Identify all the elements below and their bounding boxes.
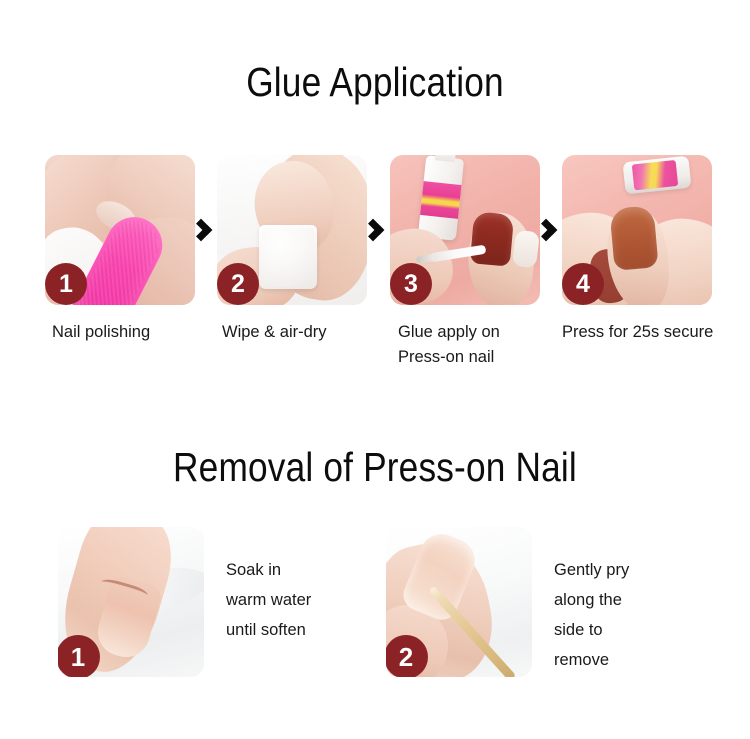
- glue-step-1-caption: Nail polishing: [52, 320, 212, 345]
- page-title-glue-application: Glue Application: [53, 58, 698, 106]
- pry-with-stick-photo: 2: [386, 527, 532, 677]
- glue-step-4[interactable]: 4: [562, 155, 712, 305]
- nail-polishing-photo: 1: [45, 155, 195, 305]
- page-title-removal: Removal of Press-on Nail: [53, 443, 698, 491]
- soak-warm-water-photo: 1: [58, 527, 204, 677]
- step-badge-1: 1: [45, 263, 87, 305]
- wipe-air-dry-photo: 2: [217, 155, 367, 305]
- removal-badge-1: 1: [58, 635, 100, 677]
- chevron-right-icon: [363, 213, 389, 251]
- step-badge-4: 4: [562, 263, 604, 305]
- press-secure-photo: 4: [562, 155, 712, 305]
- step-badge-2: 2: [217, 263, 259, 305]
- removal-step-1[interactable]: 1 Soak in warm water until soften: [58, 527, 204, 679]
- removal-step-1-caption: Soak in warm water until soften: [226, 555, 376, 645]
- chevron-right-icon: [536, 213, 562, 251]
- glue-application-steps: 1 2 3: [45, 155, 710, 307]
- glue-step-2[interactable]: 2: [217, 155, 367, 305]
- removal-steps: 1 Soak in warm water until soften 2 Gent…: [58, 527, 718, 683]
- removal-badge-2: 2: [386, 635, 428, 677]
- glue-step-2-caption: Wipe & air-dry: [222, 320, 387, 345]
- glue-apply-photo: 3: [390, 155, 540, 305]
- glue-step-3-caption: Glue apply on Press-on nail: [398, 320, 558, 370]
- step-badge-3: 3: [390, 263, 432, 305]
- chevron-right-icon: [191, 213, 217, 251]
- glue-step-1[interactable]: 1: [45, 155, 195, 305]
- removal-step-2-caption: Gently pry along the side to remove: [554, 555, 704, 675]
- glue-step-4-caption: Press for 25s secure: [562, 320, 750, 345]
- glue-step-3[interactable]: 3: [390, 155, 540, 305]
- removal-step-2[interactable]: 2 Gently pry along the side to remove: [386, 527, 532, 679]
